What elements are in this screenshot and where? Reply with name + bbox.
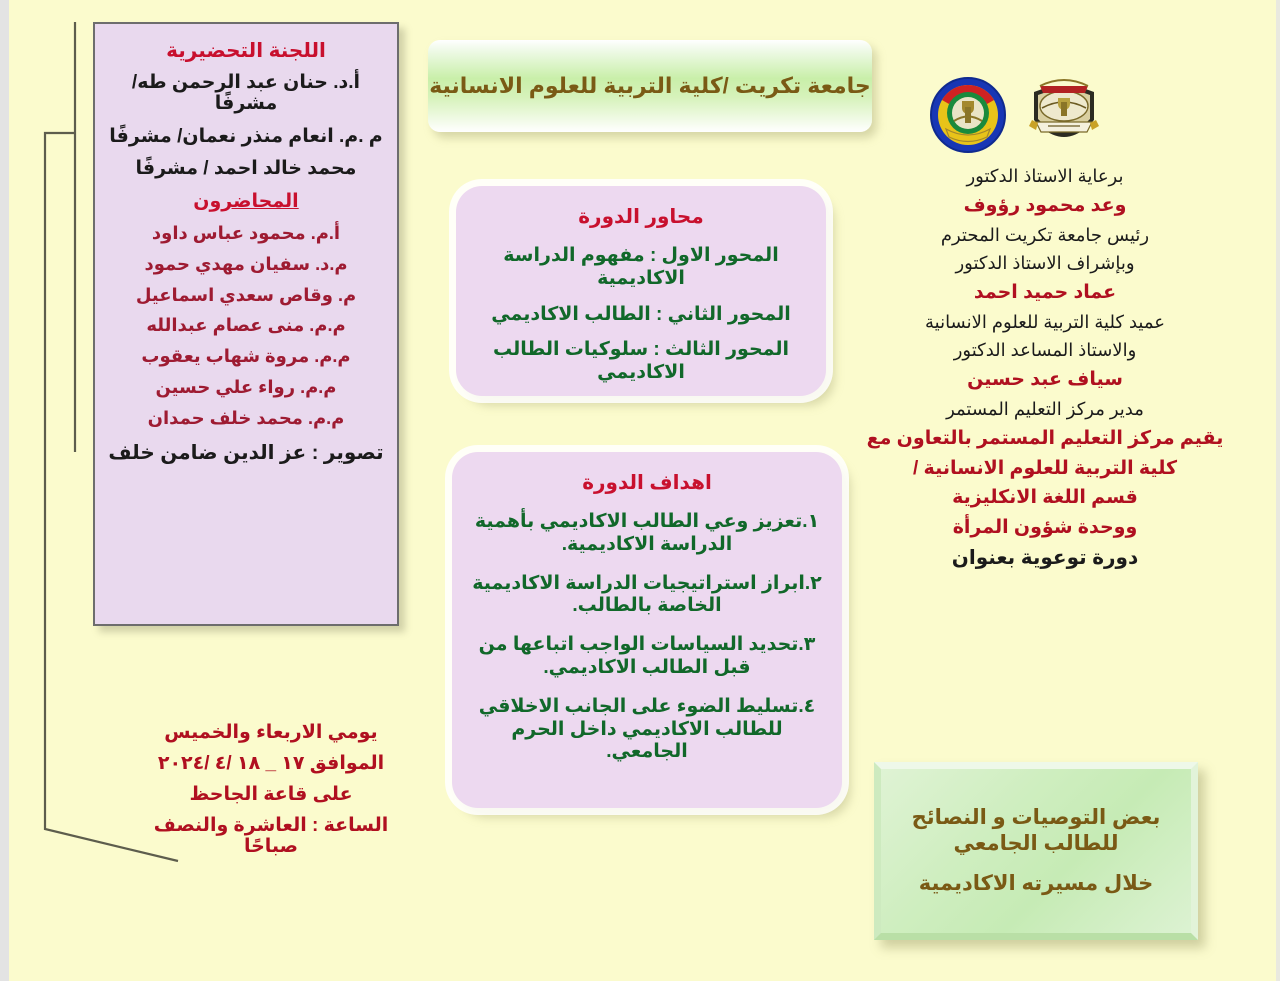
lecturer-entry: م.م. رواء علي حسين: [105, 378, 387, 398]
lecturer-entry: أ.م. محمود عباس داود: [105, 224, 387, 244]
organizer-line: قسم اللغة الانكليزية: [860, 487, 1230, 509]
axis-item: المحور الاول : مفهوم الدراسة الاكاديمية: [472, 245, 810, 291]
course-axes-card: محاور الدورة المحور الاول : مفهوم الدراس…: [456, 186, 826, 396]
goal-item: ١.تعزيز وعي الطالب الاكاديمي بأهمية الدر…: [470, 511, 824, 557]
page-edge-left: [0, 0, 9, 981]
goal-item: ٤.تسليط الضوء على الجانب الاخلاقي للطالب…: [470, 696, 824, 764]
lecturer-entry: م.م. منى عصام عبدالله: [105, 316, 387, 336]
schedule-time: الساعة : العاشرة والنصف صباحًا: [140, 815, 402, 859]
goal-item: ٣.تحديد السياسات الواجب اتباعها من قبل ا…: [470, 634, 824, 680]
university-title-banner: جامعة تكريت /كلية التربية للعلوم الانسان…: [428, 40, 872, 132]
committee-header: اللجنة التحضيرية: [105, 38, 387, 63]
axes-card-header: محاور الدورة: [472, 204, 810, 229]
lecturer-entry: م. وقاص سعدي اسماعيل: [105, 286, 387, 306]
page-edge-right: [1276, 0, 1280, 981]
schedule-days: يومي الاربعاء والخميس: [140, 722, 402, 744]
photography-credit: تصوير : عز الدين ضامن خلف: [105, 440, 387, 465]
supervision-label: وبإشراف الاستاذ الدكتور: [860, 253, 1230, 274]
supervisor-entry: أ.د. حنان عبد الرحمن طه/ مشرفًا: [105, 72, 387, 115]
lecturer-entry: م.م. مروة شهاب يعقوب: [105, 347, 387, 367]
preparatory-committee-panel: اللجنة التحضيرية أ.د. حنان عبد الرحمن طه…: [93, 22, 399, 626]
lecturer-entry: م.د. سفيان مهدي حمود: [105, 255, 387, 275]
patron-title: رئيس جامعة تكريت المحترم: [860, 225, 1230, 246]
iraq-ministry-circular-emblem: [930, 77, 1006, 153]
course-goals-card: اهداف الدورة ١.تعزيز وعي الطالب الاكاديم…: [452, 452, 842, 808]
lecturers-header: المحاضرون: [105, 190, 387, 213]
goal-item: ٢.ابراز استراتيجيات الدراسة الاكاديمية ا…: [470, 573, 824, 619]
tikrit-university-shield-emblem: [1028, 76, 1100, 154]
patron-name: وعد محمود رؤوف: [860, 195, 1230, 217]
course-label: دورة توعوية بعنوان: [860, 547, 1230, 570]
supervisor-title: عميد كلية التربية للعلوم الانسانية: [860, 312, 1230, 333]
assistant-name: سياف عبد حسين: [860, 369, 1230, 391]
topic-line-1: بعض التوصيات و النصائح: [912, 805, 1161, 831]
course-topic-card: بعض التوصيات و النصائح للطالب الجامعي خل…: [874, 762, 1198, 940]
organizer-line: كلية التربية للعلوم الانسانية /: [860, 458, 1230, 480]
supervisor-entry: محمد خالد احمد / مشرفًا: [105, 158, 387, 179]
topic-line-3: خلال مسيرته الاكاديمية: [919, 871, 1154, 897]
schedule-date: الموافق ١٧ _ ١٨ /٤ /٢٠٢٤: [140, 753, 402, 775]
organizer-line: ووحدة شؤون المرأة: [860, 517, 1230, 539]
event-schedule-block: يومي الاربعاء والخميس الموافق ١٧ _ ١٨ /٤…: [140, 722, 402, 867]
axis-item: المحور الثاني : الطالب الاكاديمي: [472, 304, 810, 327]
university-title-text: جامعة تكريت /كلية التربية للعلوم الانسان…: [429, 73, 871, 99]
axis-item: المحور الثالث : سلوكيات الطالب الاكاديمي: [472, 339, 810, 385]
goals-card-header: اهداف الدورة: [470, 470, 824, 495]
patronage-label: برعاية الاستاذ الدكتور: [860, 166, 1230, 187]
topic-line-2: للطالب الجامعي: [954, 831, 1119, 857]
organizer-line: يقيم مركز التعليم المستمر بالتعاون مع: [860, 428, 1230, 450]
assistant-label: والاستاذ المساعد الدكتور: [860, 340, 1230, 361]
organizers-column: برعاية الاستاذ الدكتور وعد محمود رؤوف رئ…: [860, 166, 1230, 578]
supervisor-entry: م .م. انعام منذر نعمان/ مشرفًا: [105, 126, 387, 147]
assistant-title: مدير مركز التعليم المستمر: [860, 399, 1230, 420]
supervisor-name: عماد حميد احمد: [860, 282, 1230, 304]
university-emblems-row: [925, 62, 1105, 167]
schedule-venue: على قاعة الجاحظ: [140, 784, 402, 806]
lecturer-entry: م.م. محمد خلف حمدان: [105, 409, 387, 429]
poster-canvas: اللجنة التحضيرية أ.د. حنان عبد الرحمن طه…: [0, 0, 1280, 981]
